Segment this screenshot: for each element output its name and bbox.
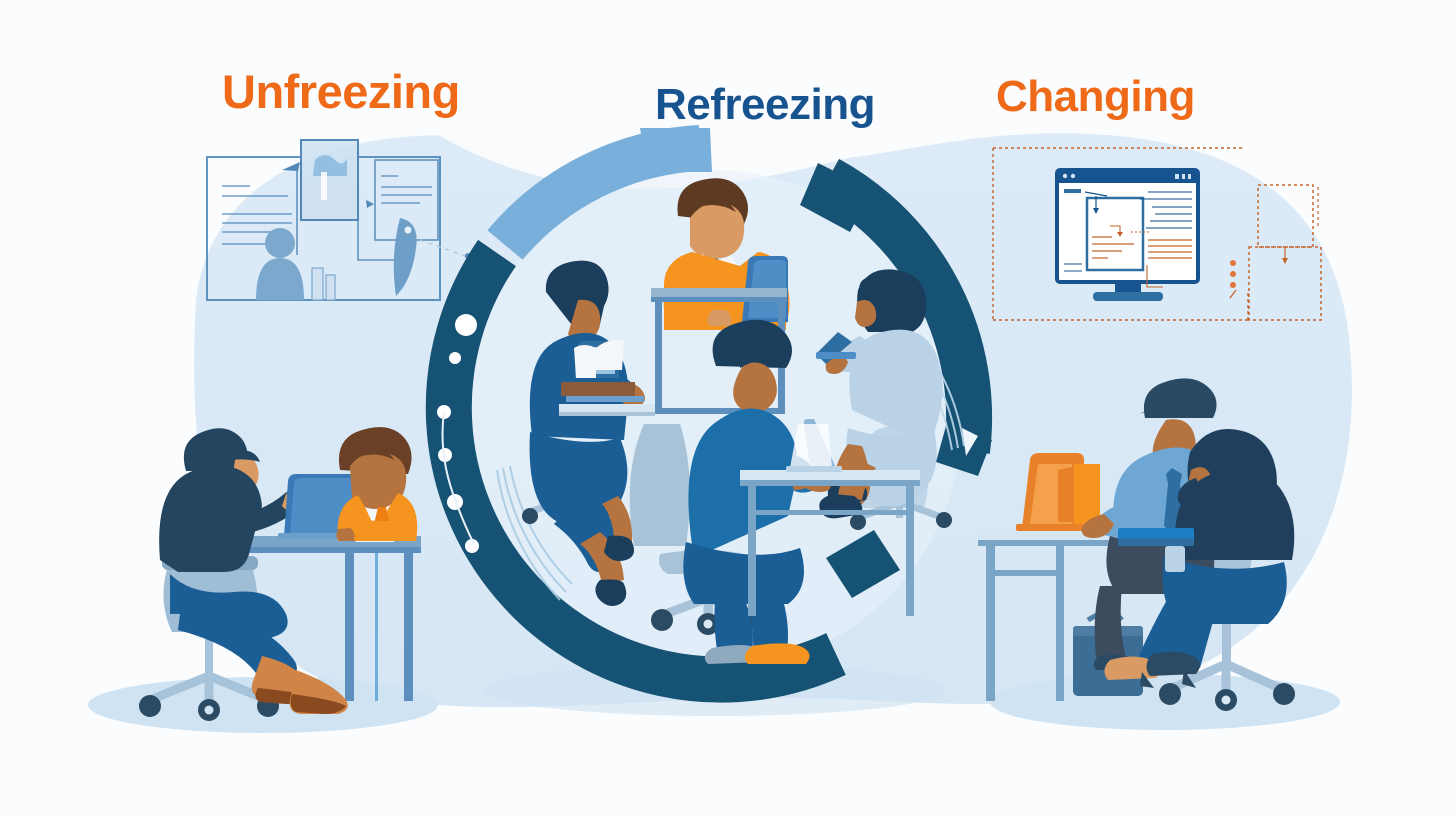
ring-light-end-cap [640,128,712,172]
heading-changing: Changing [996,72,1195,122]
heading-refreezing: Refreezing [655,80,875,130]
monitor-mockup [1057,170,1198,301]
heading-unfreezing: Unfreezing [222,64,460,119]
illustration-canvas: Unfreezing Refreezing Changing [0,0,1456,816]
